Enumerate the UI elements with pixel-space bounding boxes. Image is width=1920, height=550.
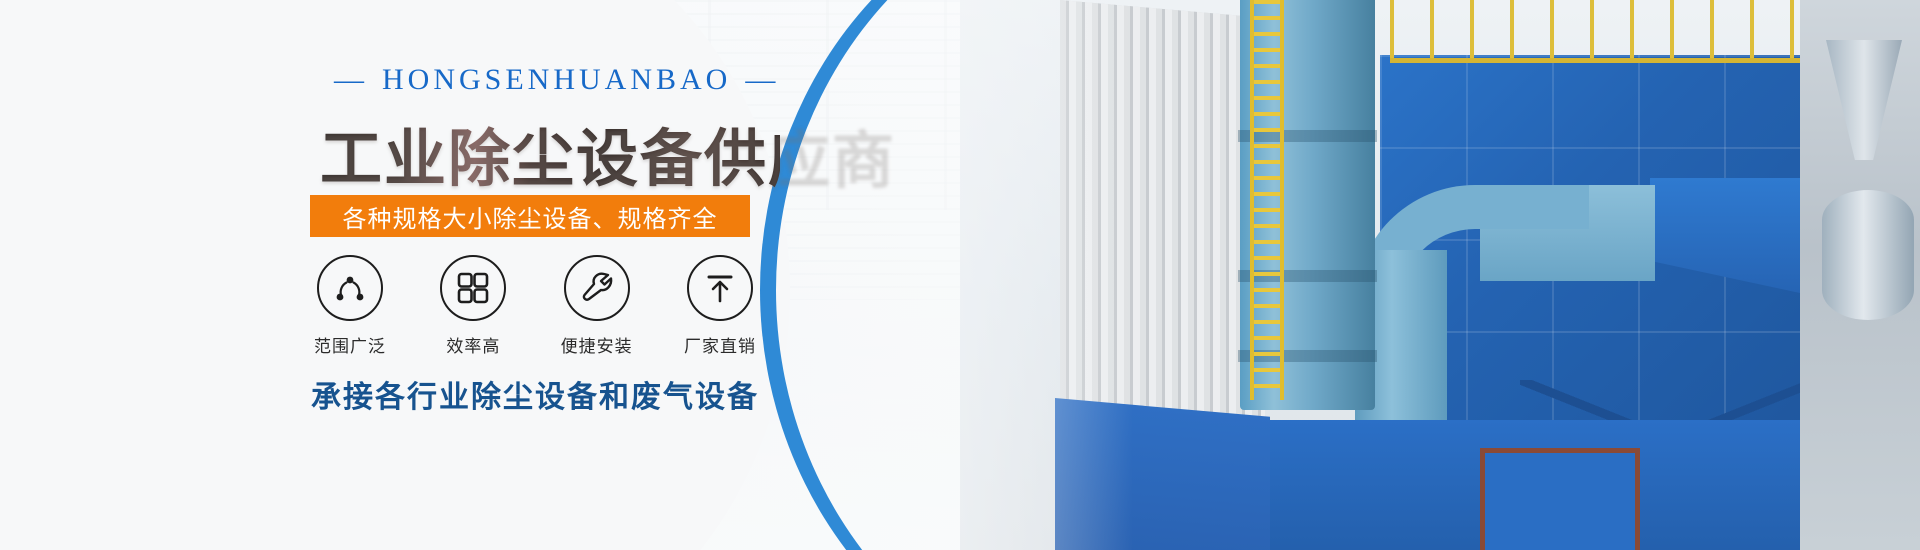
feature-list: 范围广泛 效率高 [300,255,770,357]
arrow-up-to-bar-icon [687,255,753,321]
dash-left-icon: — [334,63,368,97]
grid-four-squares-icon [440,255,506,321]
hero-banner: —HONGSENHUANBAO— 工业除尘设备供应商 各种规格大小除尘设备、规格… [0,0,1920,550]
network-share-icon [317,255,383,321]
subtitle-text: 各种规格大小除尘设备、规格齐全 [343,199,718,234]
brand-eyebrow: —HONGSENHUANBAO— [320,63,780,97]
feature-item-range: 范围广泛 [300,255,400,357]
industrial-equipment-photo [960,0,1920,550]
tagline-text: 承接各行业除尘设备和废气设备 [300,372,770,416]
feature-item-factory-direct: 厂家直销 [670,255,770,357]
feature-label: 效率高 [423,332,523,357]
feature-item-install: 便捷安装 [547,255,647,357]
feature-label: 范围广泛 [300,332,400,357]
feature-label: 便捷安装 [547,332,647,357]
feature-item-efficiency: 效率高 [423,255,523,357]
subtitle-orange-bar: 各种规格大小除尘设备、规格齐全 [310,195,750,237]
banner-content: —HONGSENHUANBAO— 工业除尘设备供应商 各种规格大小除尘设备、规格… [0,0,1000,550]
wrench-icon [564,255,630,321]
feature-label: 厂家直销 [670,332,770,357]
dash-right-icon: — [745,63,779,97]
brand-name-latin: HONGSENHUANBAO [382,63,731,96]
page-title: 工业除尘设备供应商 [320,108,780,198]
